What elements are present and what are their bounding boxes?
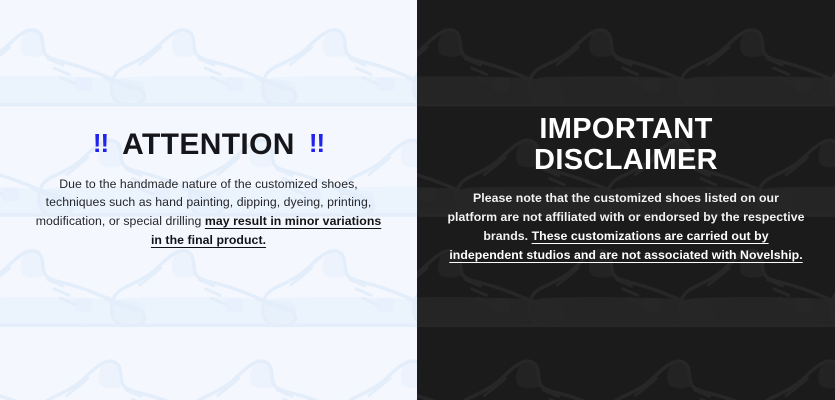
disclaimer-body: Please note that the customized shoes li… <box>447 189 805 264</box>
disclaimer-heading-line-1: IMPORTANT <box>447 114 805 145</box>
disclaimer-panel: IMPORTANT DISCLAIMER Please note that th… <box>417 0 835 400</box>
disclaimer-heading: IMPORTANT DISCLAIMER <box>447 114 805 177</box>
attention-heading-text: ATTENTION <box>122 129 295 161</box>
attention-body: Due to the handmade nature of the custom… <box>30 175 387 250</box>
disclaimer-heading-line-2: DISCLAIMER <box>447 145 805 176</box>
disclaimer-content: IMPORTANT DISCLAIMER Please note that th… <box>417 114 835 264</box>
double-exclamation-left-icon: !! <box>93 130 108 158</box>
attention-heading: !! ATTENTION !! <box>30 129 387 161</box>
attention-panel: !! ATTENTION !! Due to the handmade natu… <box>0 0 417 400</box>
attention-content: !! ATTENTION !! Due to the handmade natu… <box>0 129 417 250</box>
double-exclamation-right-icon: !! <box>309 130 324 158</box>
disclaimer-banner: !! ATTENTION !! Due to the handmade natu… <box>0 0 835 400</box>
